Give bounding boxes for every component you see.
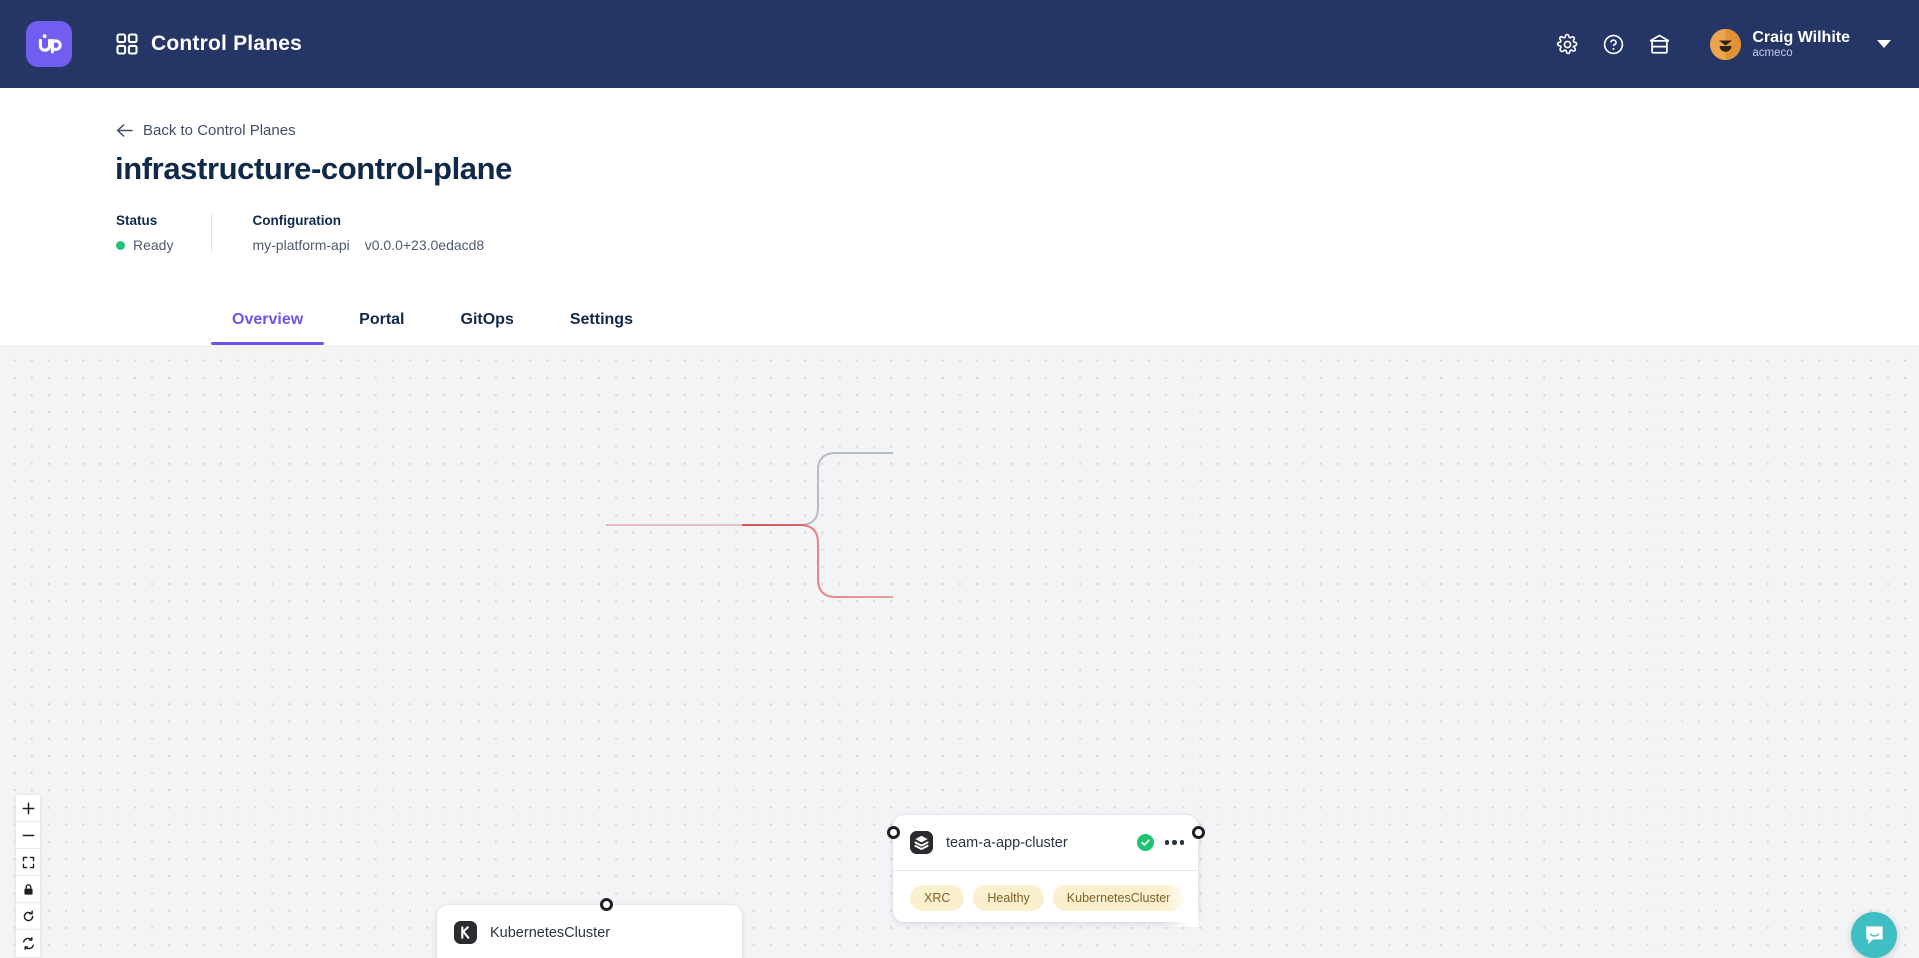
- avatar: [1710, 29, 1741, 60]
- menu-dot: [1180, 840, 1184, 844]
- fit-view-button[interactable]: [16, 849, 40, 876]
- avatar-icon: [1710, 29, 1741, 60]
- handle-kubernetescluster-right[interactable]: [600, 898, 613, 911]
- zoom-out-button[interactable]: [16, 822, 40, 849]
- page-title: infrastructure-control-plane: [115, 151, 1919, 187]
- status-badge-healthy: [1137, 834, 1154, 851]
- back-to-control-planes-link[interactable]: Back to Control Planes: [116, 122, 296, 139]
- top-nav-actions: Craig Wilhite acmeco: [1544, 21, 1891, 67]
- tab-settings-label: Settings: [570, 311, 633, 328]
- configuration-value: my-platform-api v0.0.0+23.0edacd8: [252, 237, 484, 253]
- node-header-actions: [1137, 834, 1184, 851]
- user-org: acmeco: [1752, 47, 1850, 60]
- tab-gitops-label: GitOps: [461, 311, 514, 328]
- node-kubernetescluster[interactable]: KubernetesCluster API: [437, 905, 742, 958]
- chat-bubble-icon: [1862, 923, 1887, 948]
- node-header: KubernetesCluster: [437, 905, 742, 958]
- handle-team-a-left[interactable]: [887, 826, 900, 839]
- menu-dot: [1165, 840, 1169, 844]
- tab-bar: Overview Portal GitOps Settings: [116, 283, 1919, 345]
- configuration-block: Configuration my-platform-api v0.0.0+23.…: [211, 213, 522, 253]
- zoom-in-button[interactable]: [16, 795, 40, 822]
- handle-team-a-right[interactable]: [1192, 826, 1205, 839]
- tag-kubernetescluster[interactable]: KubernetesCluster: [1053, 885, 1185, 911]
- marketplace-icon: [1647, 32, 1672, 57]
- sync-button[interactable]: [16, 930, 40, 957]
- refresh-icon: [22, 910, 35, 923]
- gear-icon-button[interactable]: [1544, 21, 1590, 67]
- up-logo-icon: [34, 29, 64, 59]
- page-meta-row: Status Ready Configuration my-platform-a…: [116, 213, 1919, 253]
- check-icon: [1140, 837, 1151, 848]
- arrow-left-icon: [116, 123, 133, 138]
- sync-icon: [22, 937, 35, 950]
- gear-icon: [1556, 33, 1579, 56]
- top-navigation-bar: Control Planes: [0, 0, 1919, 88]
- k-glyph-icon: [454, 921, 477, 944]
- plus-icon: [22, 802, 35, 815]
- status-dot-icon: [116, 241, 125, 250]
- page-header: Back to Control Planes infrastructure-co…: [0, 88, 1919, 345]
- layers-glyph-icon: [910, 831, 933, 854]
- tab-portal[interactable]: Portal: [359, 311, 404, 345]
- node-title: team-a-app-cluster: [946, 835, 1068, 851]
- status-value: Ready: [133, 237, 173, 253]
- status-label: Status: [116, 213, 173, 228]
- node-team-a-app-cluster[interactable]: team-a-app-cluster XRC Healthy Kubernete…: [893, 815, 1198, 922]
- tab-portal-label: Portal: [359, 311, 404, 328]
- control-planes-brand[interactable]: Control Planes: [116, 32, 302, 56]
- tab-gitops[interactable]: GitOps: [461, 311, 514, 345]
- menu-dot: [1172, 840, 1176, 844]
- layers-icon: [910, 831, 933, 854]
- marketplace-icon-button[interactable]: [1636, 21, 1682, 67]
- configuration-label: Configuration: [252, 213, 484, 228]
- k-letter-icon: [454, 921, 477, 944]
- user-name: Craig Wilhite: [1752, 29, 1850, 47]
- grid-icon: [116, 33, 138, 55]
- canvas-controls: [15, 794, 41, 958]
- status-block: Status Ready: [116, 213, 211, 253]
- node-title: KubernetesCluster: [490, 925, 610, 941]
- fit-view-icon: [22, 856, 35, 869]
- help-circle-icon-button[interactable]: [1590, 21, 1636, 67]
- tag-healthy[interactable]: Healthy: [973, 885, 1043, 911]
- tab-overview-label: Overview: [232, 311, 303, 328]
- brand-title: Control Planes: [151, 32, 302, 56]
- tab-overview[interactable]: Overview: [232, 311, 303, 345]
- help-circle-icon: [1602, 33, 1625, 56]
- tab-settings[interactable]: Settings: [570, 311, 633, 345]
- node-menu-button[interactable]: [1165, 837, 1184, 847]
- configuration-version: v0.0.0+23.0edacd8: [365, 237, 485, 253]
- upbound-logo[interactable]: [26, 21, 72, 67]
- user-menu[interactable]: Craig Wilhite acmeco: [1710, 29, 1891, 60]
- user-info: Craig Wilhite acmeco: [1752, 29, 1850, 60]
- lock-icon: [22, 883, 35, 896]
- minus-icon: [22, 829, 35, 842]
- lock-button[interactable]: [16, 876, 40, 903]
- chevron-down-icon[interactable]: [1877, 40, 1891, 48]
- configuration-name[interactable]: my-platform-api: [252, 237, 349, 253]
- tag-xrc[interactable]: XRC: [910, 885, 964, 911]
- reset-button[interactable]: [16, 903, 40, 930]
- graph-canvas[interactable]: KubernetesCluster API team-a-app-cluster: [0, 345, 1919, 958]
- back-link-label: Back to Control Planes: [143, 122, 296, 139]
- node-header: team-a-app-cluster: [893, 815, 1198, 871]
- chat-launcher-button[interactable]: [1851, 912, 1897, 958]
- status-badge: Ready: [116, 237, 173, 253]
- node-tags: XRC Healthy KubernetesCluster: [893, 871, 1198, 927]
